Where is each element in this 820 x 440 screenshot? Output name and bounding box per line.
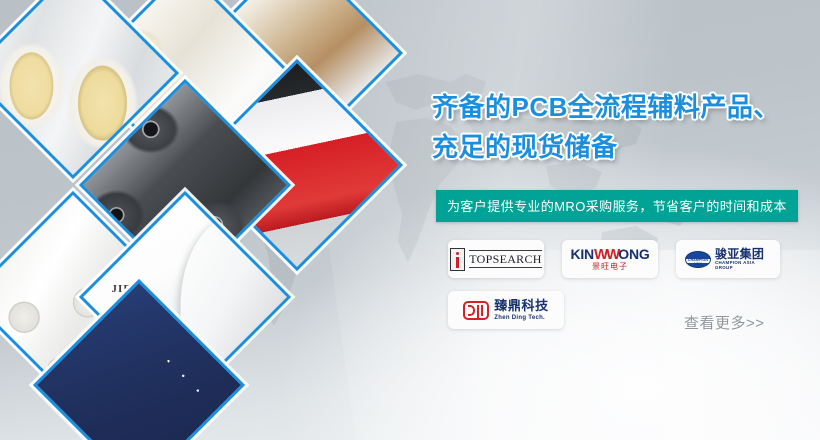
kinwong-wordmark-accent: WW — [594, 247, 618, 262]
champion-asia-english-name: CHAMPION ASIA GROUP — [715, 261, 771, 270]
topsearch-i-mark-icon — [450, 248, 465, 271]
partner-logo-kinwong[interactable]: KIN WW ONG 景旺电子 — [562, 240, 658, 278]
zhen-ding-chinese-name: 臻鼎科技 — [494, 300, 548, 313]
champion-asia-chinese-name: 骏亚集团 — [715, 248, 771, 260]
banner-headline: 齐备的PCB全流程辅料产品、 充足的现货储备 — [432, 88, 810, 167]
champion-asia-globe-icon: CHAMPION ASIA — [685, 251, 711, 268]
partner-logo-champion-asia[interactable]: CHAMPION ASIA 骏亚集团 CHAMPION ASIA GROUP — [676, 240, 780, 278]
partner-logo-topsearch[interactable]: TOPSEARCH — [448, 240, 544, 278]
partner-logo-row-1: TOPSEARCH KIN WW ONG 景旺电子 CHAMPION ASIA — [448, 240, 798, 278]
promo-banner: JIE 齐备的PCB全流程辅料产品、 充足的现货储备 为客户提供专业的MRO采购… — [0, 0, 820, 440]
partner-logo-zhen-ding[interactable]: 臻鼎科技 Zhen Ding Tech. — [448, 291, 564, 329]
topsearch-wordmark: TOPSEARCH — [469, 250, 542, 268]
kinwong-wordmark-part1: KIN — [570, 247, 594, 261]
headline-line-2: 充足的现货储备 — [432, 128, 810, 168]
kinwong-wordmark-part2: ONG — [618, 247, 649, 261]
champion-asia-globe-band-text: CHAMPION ASIA — [686, 259, 710, 266]
kinwong-wordmark: KIN WW ONG — [570, 247, 649, 262]
view-more-link[interactable]: 查看更多>> — [684, 312, 765, 333]
banner-subtitle-bar: 为客户提供专业的MRO采购服务，节省客户的时间和成本 — [436, 190, 798, 222]
headline-line-1: 齐备的PCB全流程辅料产品、 — [432, 92, 780, 122]
zhen-ding-english-name: Zhen Ding Tech. — [494, 315, 548, 321]
zhen-ding-mark-icon — [463, 301, 489, 320]
product-diamond-collage: JIE — [0, 0, 430, 440]
kinwong-chinese-name: 景旺电子 — [592, 263, 628, 271]
